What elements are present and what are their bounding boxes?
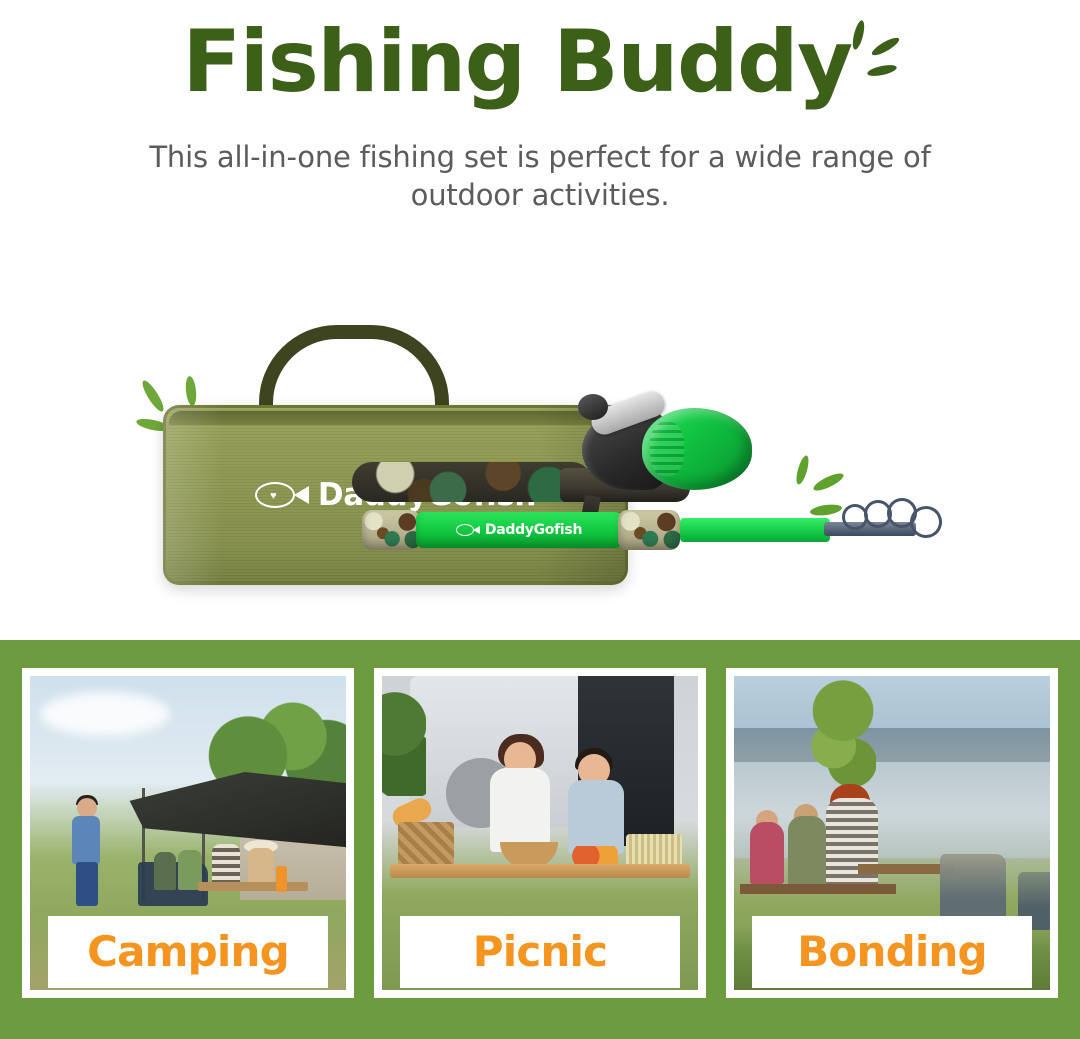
sparkle-ray-2 xyxy=(811,470,845,493)
person-body xyxy=(490,768,550,852)
sparkle-ray-3 xyxy=(866,63,897,78)
spincast-reel xyxy=(642,408,752,490)
picnic-table xyxy=(390,864,690,878)
use-case-label: Camping xyxy=(87,931,289,973)
tree xyxy=(810,680,876,798)
utensils xyxy=(626,834,682,868)
page-title: Fishing Buddy xyxy=(182,14,897,110)
use-case-card-list: Camping xyxy=(22,668,1058,998)
rod-rear-grip xyxy=(352,462,592,502)
rod-camo-grip-rear xyxy=(618,510,680,550)
sparkle-ray-2 xyxy=(869,35,900,58)
fish-body xyxy=(456,524,474,536)
use-case-label-bar: Picnic xyxy=(400,916,680,988)
product-image: ♥ DaddyGofish DaddyGofish xyxy=(0,300,1080,630)
sparkle-icon-right xyxy=(790,455,870,531)
use-case-card-bonding[interactable]: Bonding xyxy=(726,668,1058,998)
person-seated xyxy=(154,852,176,890)
camp-table xyxy=(198,882,308,891)
person-body xyxy=(568,780,624,854)
person-body xyxy=(72,816,100,864)
page-title-text: Fishing Buddy xyxy=(182,12,851,112)
sparkle-icon xyxy=(842,20,912,100)
person-body xyxy=(788,816,826,886)
picnic-basket xyxy=(398,822,454,866)
fish-tail xyxy=(473,526,480,534)
use-case-label-bar: Bonding xyxy=(752,916,1032,988)
cloud xyxy=(40,692,170,736)
sparkle-ray-2 xyxy=(184,376,197,407)
person-legs xyxy=(76,862,98,906)
tarp xyxy=(125,772,346,848)
use-cases-section: Camping xyxy=(0,640,1080,1039)
use-case-label: Picnic xyxy=(473,931,607,973)
fishing-rod: DaddyGofish xyxy=(350,448,990,608)
use-case-card-camping[interactable]: Camping xyxy=(22,668,354,998)
page-subtitle: This all-in-one fishing set is perfect f… xyxy=(120,138,960,215)
use-case-card-picnic[interactable]: Picnic xyxy=(374,668,706,998)
heart-icon: ♥ xyxy=(268,491,279,501)
fish-heart-icon: ♥ xyxy=(255,482,309,508)
person-body xyxy=(750,822,784,884)
rod-camo-grip-front xyxy=(362,510,420,550)
rod-foregrip: DaddyGofish xyxy=(416,512,622,548)
person-body xyxy=(826,798,878,890)
sparkle-ray-3 xyxy=(809,503,842,517)
fish-tail xyxy=(294,486,309,504)
bench xyxy=(740,884,896,894)
use-case-label: Bonding xyxy=(797,931,987,973)
drink-bottle xyxy=(276,866,287,892)
hero-section: Fishing Buddy This all-in-one fishing se… xyxy=(0,0,1080,640)
fish-icon xyxy=(456,524,480,536)
use-case-label-bar: Camping xyxy=(48,916,328,988)
sparkle-ray-1 xyxy=(850,19,866,50)
fruit xyxy=(572,846,618,866)
rod-brand-text: DaddyGofish xyxy=(485,522,582,538)
page-title-wrap: Fishing Buddy xyxy=(0,14,1080,110)
reel-knob xyxy=(578,394,608,420)
person-head xyxy=(77,798,97,818)
tree xyxy=(382,676,426,796)
sparkle-ray-1 xyxy=(794,454,811,485)
